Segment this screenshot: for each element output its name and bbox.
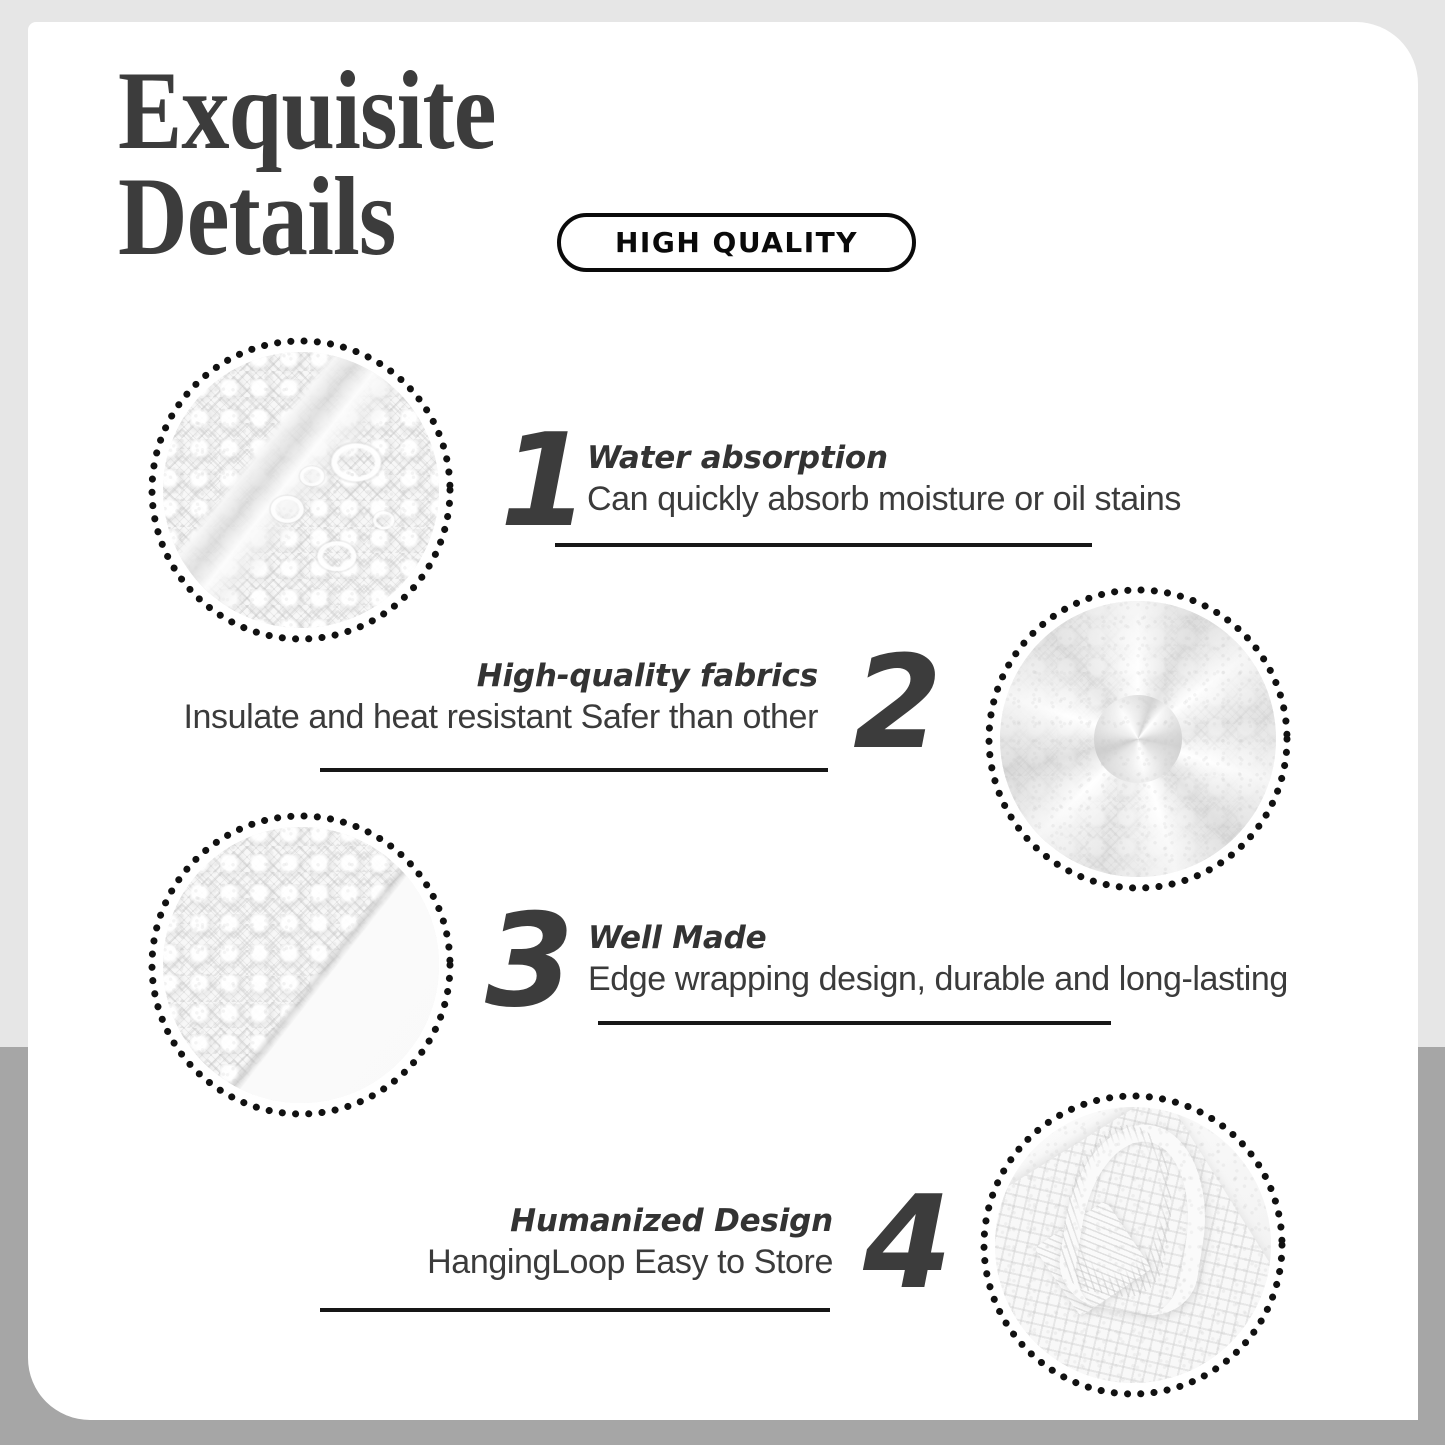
- feature-rule-1: [555, 543, 1092, 547]
- feature-body-4: HangingLoop Easy to Store: [427, 1243, 833, 1282]
- feature-number-2: 2: [853, 640, 940, 768]
- feature-body-1: Can quickly absorb moisture or oil stain…: [587, 480, 1181, 519]
- feature-rule-2: [320, 768, 828, 772]
- feature-number-3: 3: [485, 898, 572, 1026]
- feature-heading-2: High-quality fabrics: [184, 658, 819, 694]
- feature-image-1: [163, 352, 439, 628]
- feature-number-4: 4: [863, 1180, 950, 1308]
- feature-heading-4: Humanized Design: [427, 1203, 833, 1239]
- high-quality-badge: HIGH QUALITY: [557, 213, 916, 272]
- feature-heading-1: Water absorption: [587, 440, 1181, 476]
- feature-image-4: [995, 1107, 1271, 1383]
- high-quality-badge-label: HIGH QUALITY: [615, 226, 858, 259]
- feature-body-3: Edge wrapping design, durable and long-l…: [588, 960, 1288, 999]
- feature-image-2: [1000, 601, 1276, 877]
- feature-body-2: Insulate and heat resistant Safer than o…: [184, 698, 819, 737]
- infographic-canvas: Exquisite Details HIGH QUALITY 1 Water a…: [0, 0, 1445, 1445]
- feature-image-3: [163, 827, 439, 1103]
- page-title-line-1: Exquisite: [118, 58, 823, 164]
- feature-rule-4: [320, 1308, 830, 1312]
- feature-heading-3: Well Made: [588, 920, 1288, 956]
- feature-number-1: 1: [500, 418, 587, 546]
- feature-rule-3: [598, 1021, 1111, 1025]
